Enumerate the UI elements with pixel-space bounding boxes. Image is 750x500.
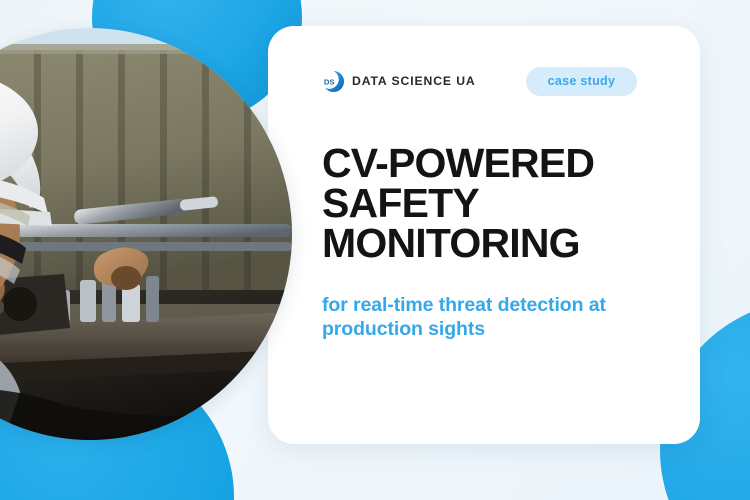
content-card: DS DATA SCIENCE UA case study CV-POWERED… <box>268 26 700 444</box>
page-subtitle: for real-time threat detection at produc… <box>322 294 652 342</box>
brand-row: DS DATA SCIENCE UA case study <box>322 64 674 98</box>
brand-name-text: DATA SCIENCE UA <box>352 74 476 88</box>
ds-circle-logo-icon: DS <box>322 70 345 93</box>
brand-logo-lockup[interactable]: DS DATA SCIENCE UA <box>322 70 476 93</box>
card-content: DS DATA SCIENCE UA case study CV-POWERED… <box>322 64 674 342</box>
case-study-badge[interactable]: case study <box>526 67 638 96</box>
headline-line-3: MONITORING <box>322 224 674 264</box>
headline-line-1: CV-POWERED <box>322 144 674 184</box>
page-title: CV-POWERED SAFETY MONITORING <box>322 144 674 263</box>
promo-banner: DS DATA SCIENCE UA case study CV-POWERED… <box>0 0 750 500</box>
svg-text:DS: DS <box>324 77 335 86</box>
headline-line-2: SAFETY <box>322 184 674 224</box>
